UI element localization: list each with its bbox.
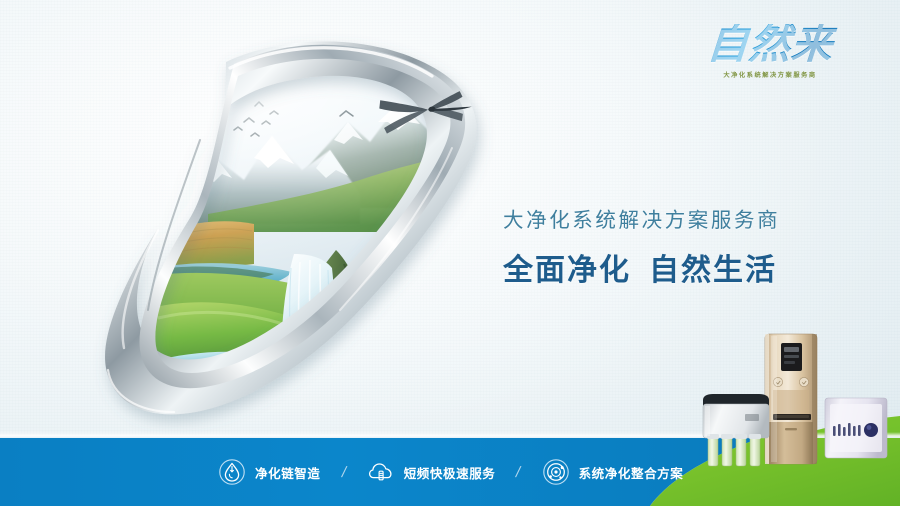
logo-subtitle: 大净化系统解决方案服务商 [684,69,857,79]
logo-text: 自然来 [679,24,862,66]
footer-feature-label-2: 系统净化整合方案 [579,463,684,482]
footer-feature-label-0: 净化链智造 [255,463,321,482]
orbit-atom-icon [542,458,570,486]
product-cluster [697,330,892,470]
headline-subtitle: 大净化系统解决方案服务商 [503,203,780,233]
footer-separator-0: / [319,464,369,481]
multi-stage-filter-unit [703,394,769,466]
footer-feature-0[interactable]: 净化链智造 [218,458,321,486]
hero-leaf-artwork [48,18,518,418]
floor-standing-water-dispenser [765,334,817,464]
headline-title-part1: 全面净化 [503,254,631,287]
wall-mounted-purifier [825,398,887,458]
headline-block: 大净化系统解决方案服务商 全面净化自然生活 [503,203,780,289]
footer-separator-1: / [494,464,544,481]
cloud-icon [367,458,395,486]
footer-feature-label-1: 短频快极速服务 [404,463,496,482]
brand-logo: 自然来 大净化系统解决方案服务商 [680,24,860,79]
footer-feature-2[interactable]: 系统净化整合方案 [542,458,684,486]
water-drop-icon [218,458,246,486]
headline-title-part2: 自然生活 [649,254,777,287]
footer-feature-1[interactable]: 短频快极速服务 [367,458,496,486]
poster-canvas: 自然来 大净化系统解决方案服务商 大净化系统解决方案服务商 全面净化自然生活 [0,0,900,506]
headline-title: 全面净化自然生活 [503,245,780,289]
